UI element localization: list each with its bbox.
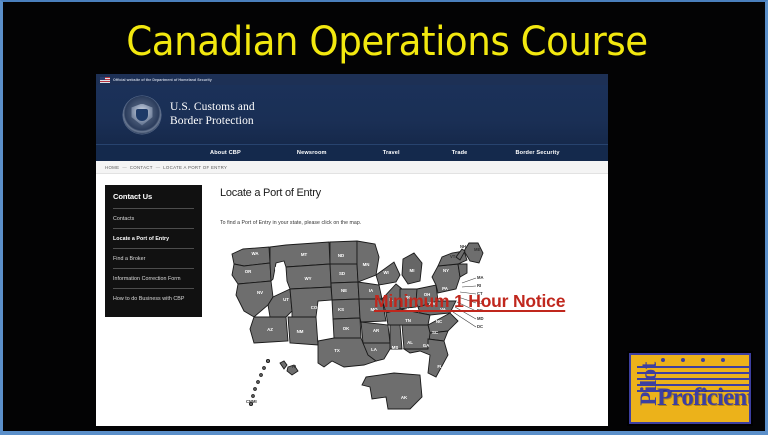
dhs-official-banner: Official website of the Department of Ho… [96, 74, 608, 85]
agency-name-line1: U.S. Customs and [170, 101, 255, 115]
svg-text:NE: NE [341, 288, 347, 293]
svg-text:OR: OR [245, 269, 252, 274]
us-flag-icon [100, 77, 110, 83]
presentation-slide: Canadian Operations Course Official webs… [0, 0, 768, 435]
svg-text:AK: AK [401, 395, 408, 400]
svg-text:HI: HI [292, 364, 296, 369]
svg-text:NV: NV [257, 290, 263, 295]
map-state-shapes [232, 241, 483, 409]
nav-item-border-security[interactable]: Border Security [515, 150, 559, 156]
page-title: Locate a Port of Entry [220, 187, 608, 199]
svg-text:CNMI: CNMI [246, 399, 257, 404]
us-port-of-entry-map[interactable]: WA OR ID MT ND MN SD WY NV UT CO NE IA W… [224, 237, 492, 415]
primary-navigation: About CBP Newsroom Travel Trade Border S… [96, 144, 608, 161]
svg-text:NC: NC [436, 319, 443, 324]
svg-text:CA: CA [234, 307, 241, 312]
cbp-seal-icon [123, 96, 161, 134]
svg-text:AR: AR [373, 328, 380, 333]
svg-text:ND: ND [338, 253, 344, 258]
svg-text:SD: SD [339, 271, 345, 276]
svg-text:ME: ME [474, 247, 480, 252]
minimum-notice-annotation: Minimum 1 Hour Notice [374, 291, 565, 312]
svg-text:NM: NM [297, 329, 304, 334]
sidebar-item-locate-port[interactable]: Locate a Port of Entry [113, 228, 194, 248]
breadcrumb-item-contact[interactable]: CONTACT [130, 165, 153, 170]
breadcrumb: HOME — CONTACT — LOCATE A PORT OF ENTRY [96, 161, 608, 174]
sidebar-item-contacts[interactable]: Contacts [113, 208, 194, 228]
nav-item-newsroom[interactable]: Newsroom [297, 150, 327, 156]
cbp-masthead: U.S. Customs and Border Protection [96, 85, 608, 144]
breadcrumb-separator-1: — [122, 165, 126, 170]
sidebar-item-info-correction[interactable]: Information Correction Form [113, 268, 194, 288]
svg-text:WA: WA [251, 251, 259, 256]
svg-text:TN: TN [405, 318, 411, 323]
svg-text:RI: RI [477, 283, 481, 288]
svg-text:NH: NH [460, 244, 466, 249]
svg-text:TX: TX [334, 348, 340, 353]
svg-text:MA: MA [477, 275, 484, 280]
nav-item-trade[interactable]: Trade [452, 150, 468, 156]
svg-text:ID: ID [275, 266, 279, 271]
contact-us-sidebar: Contact Us Contacts Locate a Port of Ent… [105, 185, 202, 317]
agency-name-line2: Border Protection [170, 115, 255, 129]
svg-text:FL: FL [437, 364, 443, 369]
breadcrumb-item-current: LOCATE A PORT OF ENTRY [163, 165, 227, 170]
breadcrumb-separator-2: — [156, 165, 160, 170]
cbp-website-screenshot: Official website of the Department of Ho… [96, 74, 608, 426]
sidebar-item-find-broker[interactable]: Find a Broker [113, 248, 194, 268]
svg-text:NY: NY [443, 268, 449, 273]
nav-item-about-cbp[interactable]: About CBP [210, 150, 241, 156]
svg-text:GA: GA [423, 343, 430, 348]
logo-note-dots [661, 358, 741, 363]
svg-text:MT: MT [301, 252, 308, 257]
svg-text:MD: MD [477, 316, 484, 321]
nav-item-travel[interactable]: Travel [383, 150, 400, 156]
svg-text:VT: VT [450, 254, 456, 259]
svg-text:MS: MS [392, 345, 399, 350]
svg-text:WY: WY [304, 276, 311, 281]
svg-text:UT: UT [283, 297, 289, 302]
dhs-banner-text: Official website of the Department of Ho… [113, 78, 212, 82]
svg-text:WI: WI [383, 270, 388, 275]
svg-text:SC: SC [432, 330, 439, 335]
svg-text:AL: AL [407, 340, 413, 345]
svg-text:MN: MN [363, 262, 370, 267]
svg-text:LA: LA [371, 347, 378, 352]
svg-text:OK: OK [343, 326, 350, 331]
svg-text:CO: CO [311, 305, 318, 310]
logo-word-proficient: Proficient [657, 384, 751, 412]
pilot-proficient-logo: Pilot Proficient [629, 353, 751, 424]
cbp-agency-name[interactable]: U.S. Customs and Border Protection [170, 101, 255, 128]
svg-text:DC: DC [477, 324, 483, 329]
slide-title: Canadian Operations Course [30, 18, 744, 66]
svg-text:KS: KS [338, 307, 344, 312]
sidebar-title: Contact Us [113, 192, 194, 208]
page-body: Contact Us Contacts Locate a Port of Ent… [96, 174, 608, 426]
page-instruction: To find a Port of Entry in your state, p… [220, 220, 608, 226]
sidebar-item-do-business[interactable]: How to do Business with CBP [113, 288, 194, 308]
breadcrumb-item-home[interactable]: HOME [105, 165, 119, 170]
svg-text:MI: MI [410, 268, 415, 273]
svg-text:AZ: AZ [267, 327, 273, 332]
